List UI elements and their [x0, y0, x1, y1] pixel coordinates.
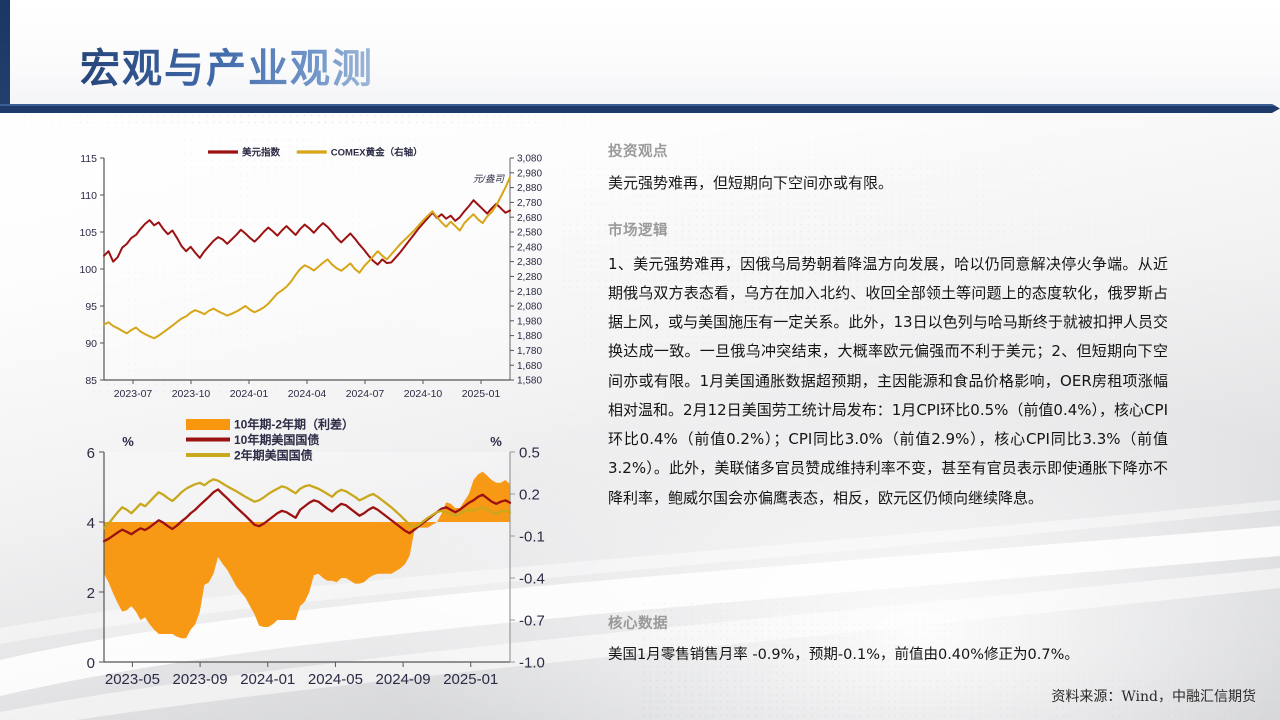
- svg-text:2024-10: 2024-10: [404, 388, 443, 400]
- svg-text:2,980: 2,980: [517, 168, 542, 179]
- svg-text:1,880: 1,880: [517, 331, 542, 342]
- svg-text:85: 85: [85, 375, 97, 387]
- svg-text:元/盎司: 元/盎司: [473, 174, 506, 185]
- svg-text:2,080: 2,080: [517, 302, 542, 313]
- svg-text:2024-01: 2024-01: [240, 671, 295, 688]
- svg-text:10年期-2年期（利差）: 10年期-2年期（利差）: [234, 417, 354, 432]
- core-data-block: 核心数据 美国1月零售销售月率 -0.9%，预期-0.1%，前值由0.40%修正…: [608, 612, 1178, 668]
- svg-text:2023-07: 2023-07: [114, 388, 153, 400]
- svg-text:2024-09: 2024-09: [376, 671, 431, 688]
- svg-text:%: %: [122, 434, 134, 449]
- svg-text:2年期美国国债: 2年期美国国债: [234, 448, 313, 463]
- svg-text:2,180: 2,180: [517, 287, 542, 298]
- svg-text:90: 90: [85, 338, 97, 350]
- svg-text:2024-07: 2024-07: [346, 388, 385, 400]
- svg-text:105: 105: [79, 227, 97, 239]
- svg-text:2025-01: 2025-01: [443, 671, 498, 688]
- svg-text:95: 95: [85, 301, 97, 313]
- header-divider-rule: [0, 104, 1280, 113]
- svg-text:2023-05: 2023-05: [105, 671, 160, 688]
- svg-text:2,380: 2,380: [517, 257, 542, 268]
- svg-text:4: 4: [87, 515, 95, 532]
- page-title: 宏观与产业观测: [80, 36, 374, 94]
- svg-text:3,080: 3,080: [517, 154, 542, 165]
- investment-view-text: 美元强势难再，但短期向下空间亦或有限。: [608, 171, 1168, 197]
- svg-text:2,280: 2,280: [517, 272, 542, 283]
- svg-text:0.5: 0.5: [519, 445, 540, 462]
- svg-text:2,780: 2,780: [517, 198, 542, 209]
- svg-text:美元指数: 美元指数: [241, 147, 281, 159]
- commentary-panel: 投资观点 美元强势难再，但短期向下空间亦或有限。 市场逻辑 1、美元强势难再，因…: [608, 140, 1168, 513]
- svg-text:2024-05: 2024-05: [308, 671, 363, 688]
- svg-text:2,880: 2,880: [517, 183, 542, 194]
- svg-text:0: 0: [87, 655, 95, 672]
- svg-text:2024-04: 2024-04: [288, 388, 327, 400]
- svg-text:1,980: 1,980: [517, 316, 542, 327]
- svg-text:10年期美国国债: 10年期美国国债: [234, 432, 319, 447]
- svg-text:COMEX黄金（右轴）: COMEX黄金（右轴）: [331, 147, 423, 159]
- market-logic-heading: 市场逻辑: [608, 219, 1168, 240]
- svg-text:6: 6: [87, 445, 95, 462]
- svg-text:%: %: [490, 434, 502, 449]
- svg-text:2,480: 2,480: [517, 242, 542, 253]
- svg-text:2,680: 2,680: [517, 213, 542, 224]
- svg-text:1,680: 1,680: [517, 361, 542, 372]
- svg-text:110: 110: [80, 190, 97, 202]
- svg-text:115: 115: [80, 153, 97, 165]
- svg-text:-0.4: -0.4: [519, 571, 545, 588]
- chart-ust-yield-spread: 02460.50.2-0.1-0.4-0.7-1.0%%2023-052023-…: [58, 418, 558, 700]
- svg-text:2,580: 2,580: [517, 228, 542, 239]
- svg-text:2023-10: 2023-10: [172, 388, 211, 400]
- svg-text:2: 2: [87, 585, 95, 602]
- header-left-accent-bar: [0, 0, 10, 113]
- svg-text:2023-09: 2023-09: [173, 671, 228, 688]
- svg-text:2024-01: 2024-01: [230, 388, 269, 400]
- svg-text:2025-01: 2025-01: [462, 388, 501, 400]
- chart-dollar-index-gold: 8590951001051101151,5801,6801,7801,8801,…: [58, 134, 558, 406]
- svg-text:1,780: 1,780: [517, 346, 542, 357]
- source-note: 资料来源：Wind，中融汇信期货: [1051, 686, 1256, 706]
- market-logic-text: 1、美元强势难再，因俄乌局势朝着降温方向发展，哈以仍同意解决停火争端。从近期俄乌…: [608, 250, 1168, 513]
- panel-spacer: [608, 197, 1168, 219]
- core-data-heading: 核心数据: [608, 612, 1178, 633]
- svg-text:-0.7: -0.7: [519, 613, 545, 630]
- svg-text:-0.1: -0.1: [519, 529, 545, 546]
- svg-text:0.2: 0.2: [519, 487, 540, 504]
- core-data-text: 美国1月零售销售月率 -0.9%，预期-0.1%，前值由0.40%修正为0.7%…: [608, 643, 1178, 668]
- svg-text:1,580: 1,580: [517, 376, 542, 387]
- slide-background: 宏观与产业观测 8590951001051101151,5801,6801,78…: [0, 0, 1280, 720]
- investment-view-heading: 投资观点: [608, 140, 1168, 161]
- svg-text:-1.0: -1.0: [519, 655, 545, 672]
- svg-text:100: 100: [79, 264, 97, 276]
